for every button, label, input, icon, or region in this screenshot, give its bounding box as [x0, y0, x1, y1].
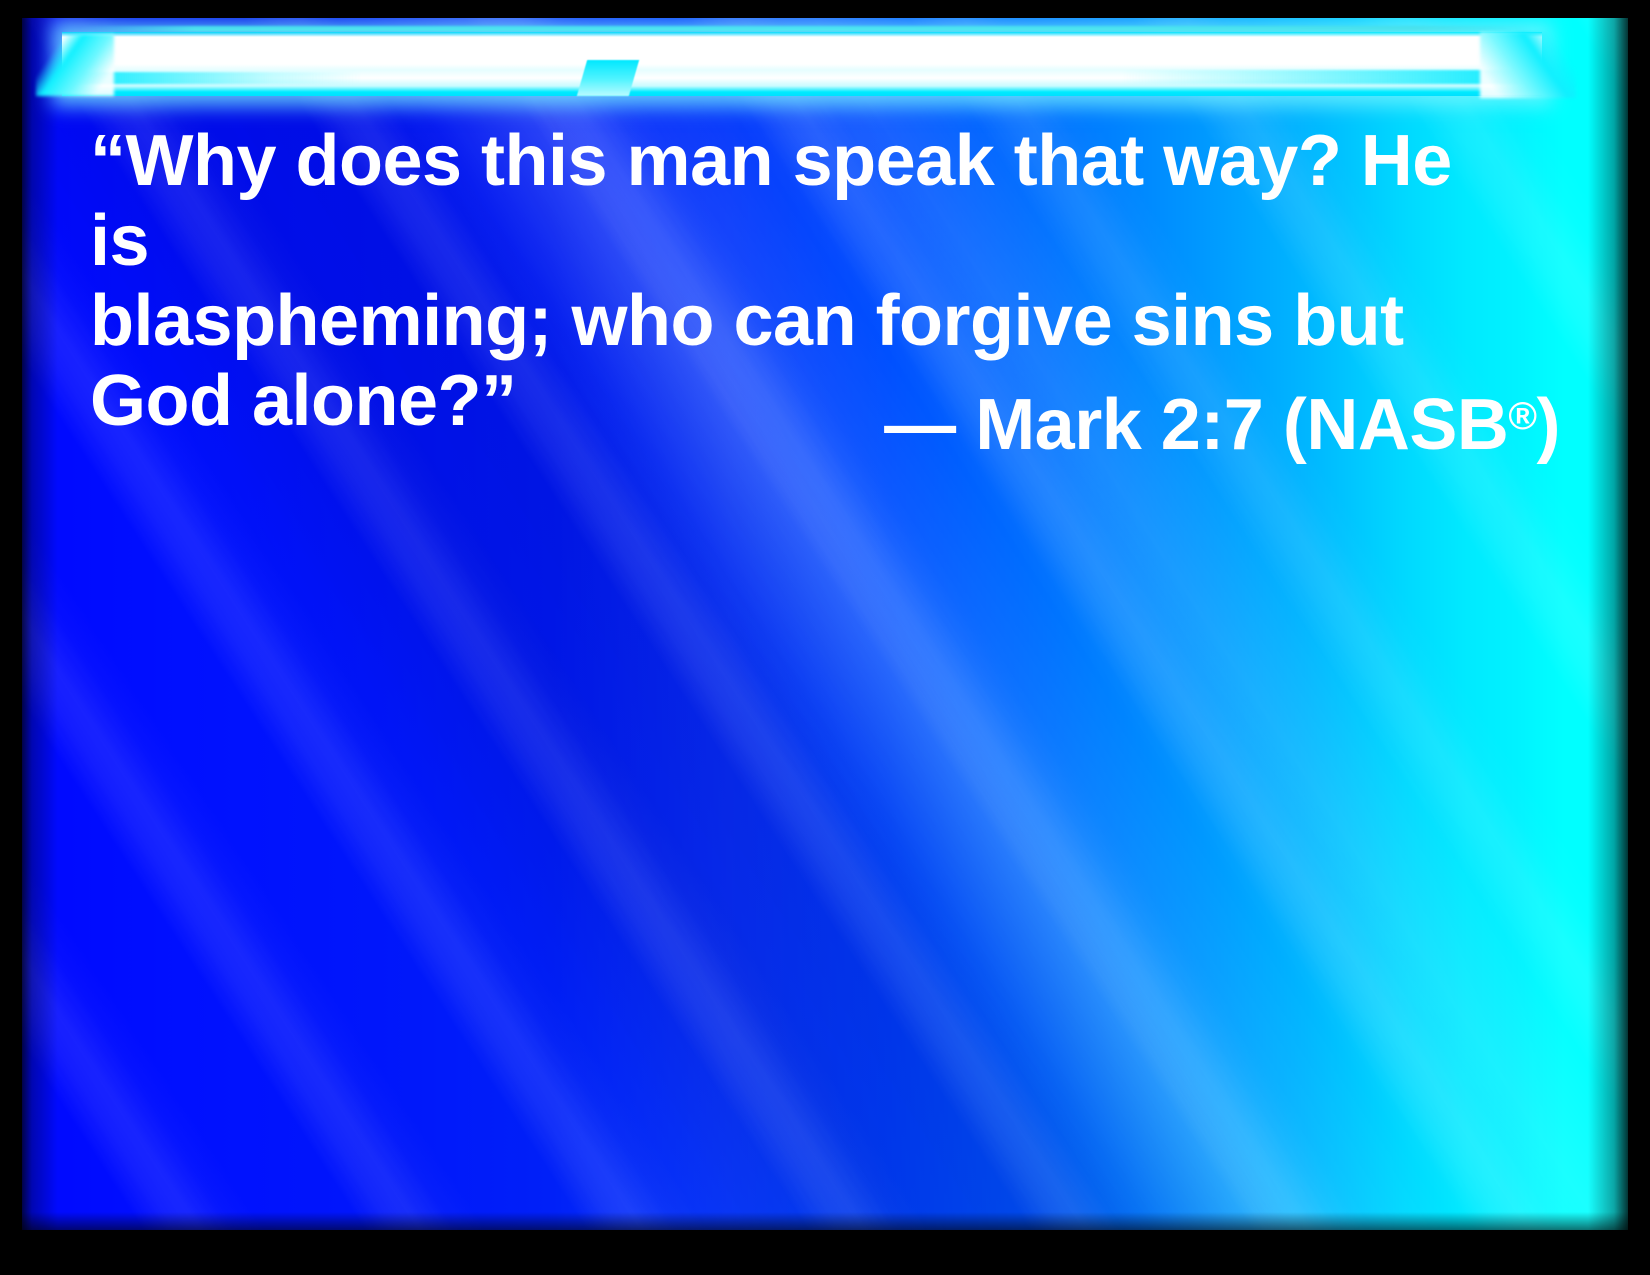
registered-trademark-icon: ®: [1508, 395, 1536, 438]
verse-line-1: “Why does this man speak that way? He is: [90, 122, 1530, 282]
banner-notch: [577, 60, 639, 96]
attribution-dash: —: [884, 385, 956, 465]
banner-corner-left: [36, 34, 114, 96]
top-banner: [62, 32, 1542, 96]
scripture-slide: “Why does this man speak that way? He is…: [0, 0, 1650, 1275]
banner-streak-right: [1122, 70, 1542, 84]
attribution-reference: Mark 2:7: [975, 385, 1263, 465]
verse-line-2: blaspheming; who can forgive sins but: [90, 282, 1530, 362]
verse-attribution: — Mark 2:7 (NASB®): [90, 386, 1560, 465]
banner-white-bar: [62, 32, 1542, 96]
banner-corner-right: [1480, 32, 1576, 98]
attribution-paren-close: ): [1537, 385, 1560, 465]
attribution-translation: (NASB: [1283, 385, 1509, 465]
slide-canvas: “Why does this man speak that way? He is…: [22, 18, 1628, 1230]
